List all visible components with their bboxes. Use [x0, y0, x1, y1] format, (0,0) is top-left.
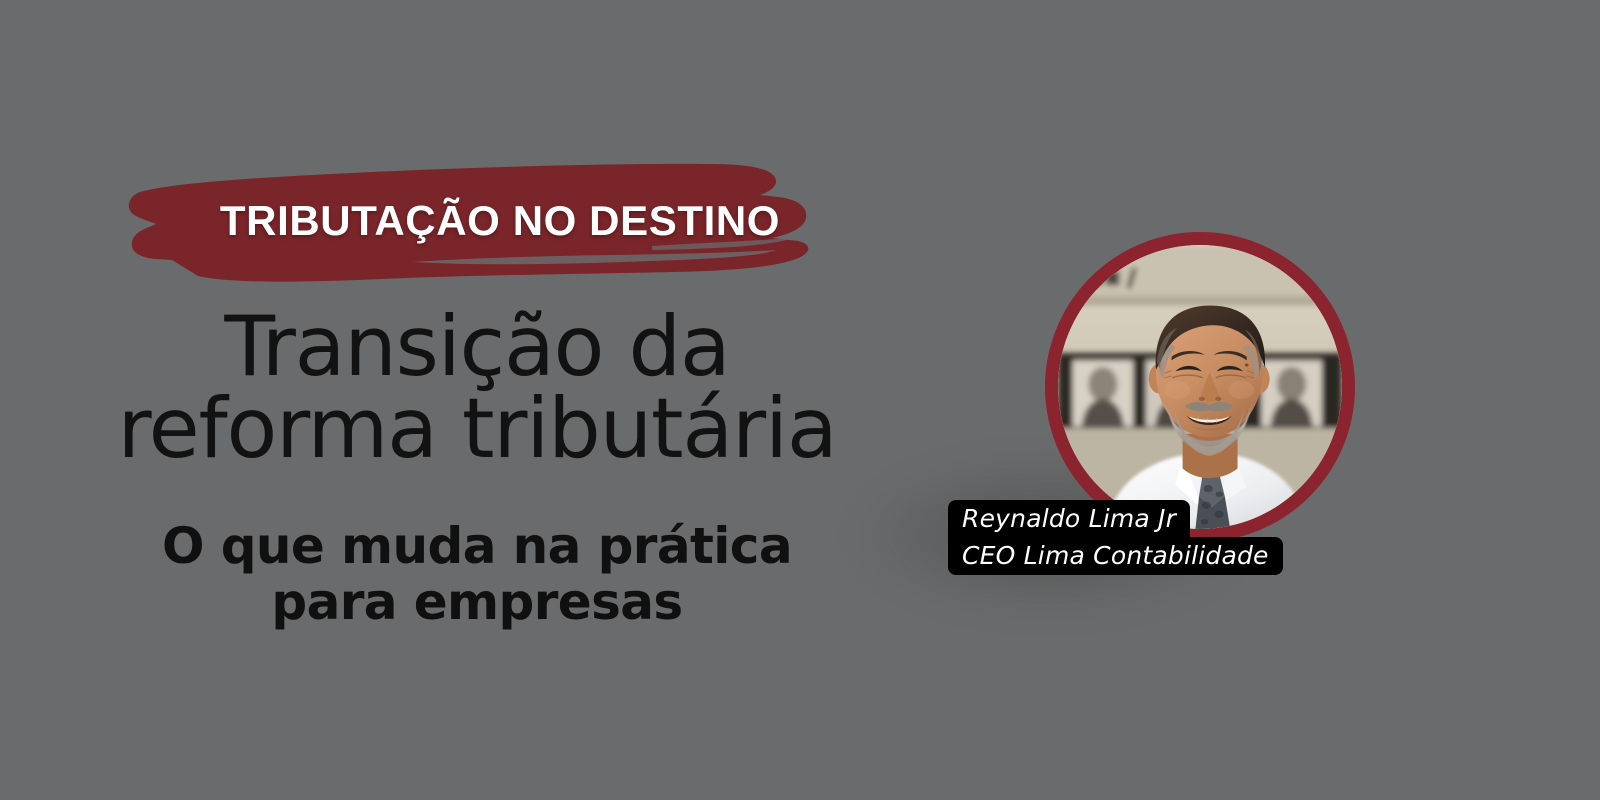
portrait-column: Reynaldo Lima Jr CEO Lima Contabilidade [840, 190, 1440, 610]
subheadline: O que muda na prática para empresas [92, 518, 862, 630]
headline-line-1: Transição da [92, 306, 862, 388]
eyebrow-badge: TRIBUTAÇÃO NO DESTINO [112, 158, 832, 283]
portrait-photo [1058, 245, 1342, 529]
caption-name: Reynaldo Lima Jr [948, 500, 1190, 538]
avatar [1045, 232, 1355, 542]
portrait-caption: Reynaldo Lima Jr CEO Lima Contabilidade [948, 500, 1283, 575]
text-column: TRIBUTAÇÃO NO DESTINO Transição da refor… [0, 0, 880, 800]
promo-banner: TRIBUTAÇÃO NO DESTINO Transição da refor… [0, 0, 1600, 800]
avatar-clip [1058, 245, 1342, 529]
headline: Transição da reforma tributária [92, 306, 862, 470]
headline-line-2: reforma tributária [92, 388, 862, 470]
subheadline-line-1: O que muda na prática [92, 518, 862, 574]
subheadline-line-2: para empresas [92, 574, 862, 630]
eyebrow-badge-label: TRIBUTAÇÃO NO DESTINO [112, 158, 832, 283]
caption-role: CEO Lima Contabilidade [948, 537, 1283, 575]
